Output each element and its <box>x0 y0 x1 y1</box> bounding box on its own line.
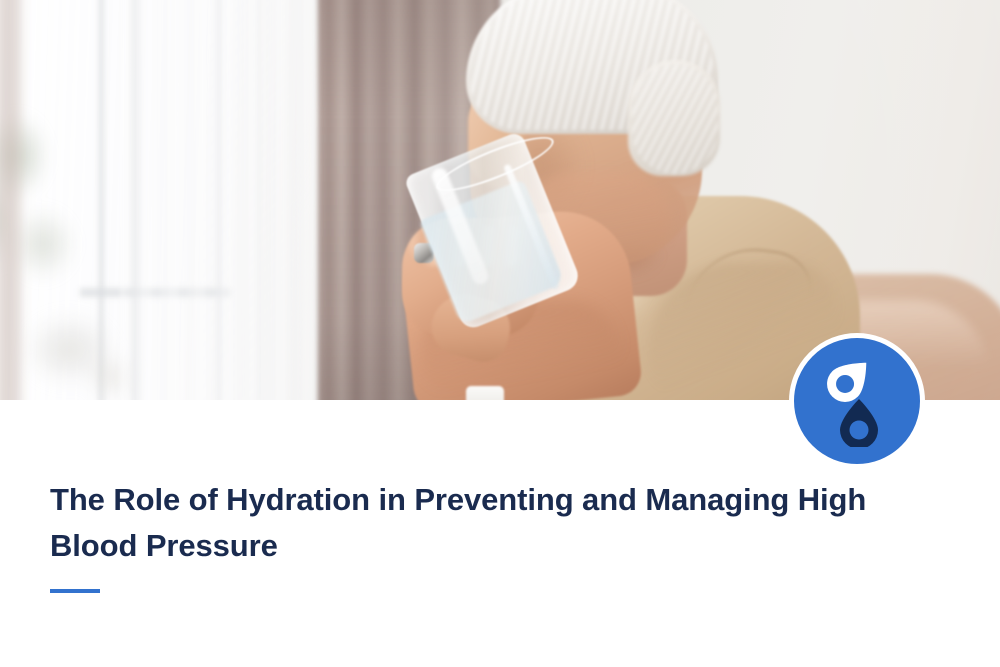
article-hero-card: The Role of Hydration in Preventing and … <box>0 0 1000 667</box>
hair-side-texture <box>632 64 718 174</box>
water-droplet-logo-icon <box>821 355 893 447</box>
article-title: The Role of Hydration in Preventing and … <box>50 477 920 569</box>
title-accent-rule <box>50 589 100 593</box>
table-object <box>466 386 504 400</box>
brand-logo-badge[interactable] <box>789 333 925 469</box>
